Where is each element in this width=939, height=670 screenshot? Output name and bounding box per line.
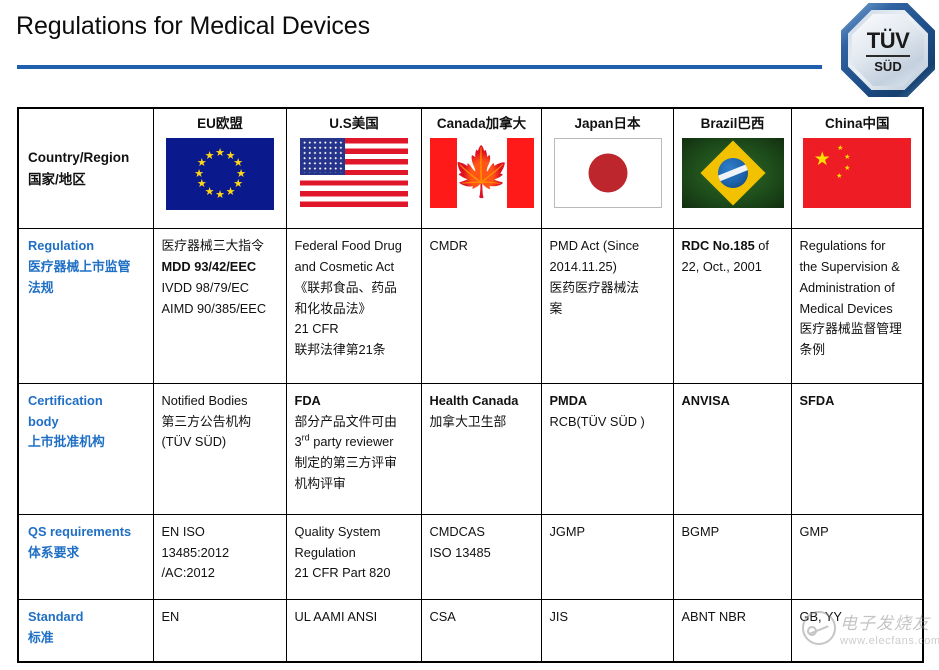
- cell-text: PMDA: [550, 393, 588, 408]
- cell-content: RDC No.185 of22, Oct., 2001: [682, 236, 784, 277]
- cell-text: Regulation: [295, 545, 356, 560]
- tuv-sud-logo: TÜV SÜD: [841, 3, 935, 97]
- cell-eu: Notified Bodies第三方公告机构(TÜV SÜD): [153, 383, 286, 514]
- row-label: Standard标准: [28, 607, 146, 648]
- cell-line: 21 CFR: [295, 319, 414, 340]
- cell-text: EN: [162, 609, 180, 624]
- cell-text: Federal Food Drug: [295, 238, 402, 253]
- cell-text: 22, Oct., 2001: [682, 259, 762, 274]
- cell-line: SFDA: [800, 391, 916, 412]
- cell-line: 21 CFR Part 820: [295, 563, 414, 584]
- header-cell-canada: Canada加拿大 🍁: [421, 108, 541, 229]
- cell-line: EN: [162, 607, 279, 628]
- cell-text: 第三方公告机构: [162, 414, 252, 429]
- cell-line: Regulations for: [800, 236, 916, 257]
- cell-content: ANVISA: [682, 391, 784, 412]
- cell-text-suffix: party reviewer: [310, 434, 394, 449]
- cell-content: BGMP: [682, 522, 784, 543]
- cell-china: Regulations forthe Supervision &Administ…: [791, 229, 923, 383]
- table-row: Regulation医疗器械上市监管法规医疗器械三大指令MDD 93/42/EE…: [18, 229, 923, 383]
- cell-brazil: BGMP: [673, 515, 791, 600]
- cell-line: 部分产品文件可由: [295, 412, 414, 433]
- header-country-region-en: Country/Region: [28, 147, 146, 169]
- cell-content: UL AAMI ANSI: [295, 607, 414, 628]
- cell-text: CMDCAS: [430, 524, 485, 539]
- slide-header: Regulations for Medical Devices TÜV SÜD: [0, 0, 939, 100]
- brazil-flag-band: [718, 160, 748, 183]
- cell-text: 《联邦食品、药品: [295, 280, 397, 295]
- cell-line: 案: [550, 299, 666, 320]
- cell-content: SFDA: [800, 391, 916, 412]
- cell-content: ABNT NBR: [682, 607, 784, 628]
- cell-line: /AC:2012: [162, 563, 279, 584]
- logo-tuv-text: TÜV: [867, 30, 910, 52]
- cell-line: AIMD 90/385/EEC: [162, 299, 279, 320]
- cell-line: 医疗器械监督管理: [800, 319, 916, 340]
- cell-content: Notified Bodies第三方公告机构(TÜV SÜD): [162, 391, 279, 453]
- cell-content: Health Canada加拿大卫生部: [430, 391, 534, 432]
- row-label-line: Regulation: [28, 236, 146, 257]
- logo-divider: [866, 55, 910, 57]
- cell-line: 2014.11.25): [550, 257, 666, 278]
- cell-text: 2014.11.25): [550, 259, 617, 274]
- cell-china: SFDA: [791, 383, 923, 514]
- cell-us: Quality SystemRegulation21 CFR Part 820: [286, 515, 421, 600]
- cell-text: EN ISO: [162, 524, 205, 539]
- eu-flag: [166, 138, 274, 210]
- cell-content: CSA: [430, 607, 534, 628]
- cell-line: 13485:2012: [162, 543, 279, 564]
- page-title: Regulations for Medical Devices: [16, 12, 370, 41]
- table-row: QS requirements体系要求EN ISO13485:2012/AC:2…: [18, 515, 923, 600]
- header-cell-brazil: Brazil巴西: [673, 108, 791, 229]
- cell-text: FDA: [295, 393, 321, 408]
- cell-line: GMP: [800, 522, 916, 543]
- cell-eu: EN ISO13485:2012/AC:2012: [153, 515, 286, 600]
- cell-text: 机构评审: [295, 476, 346, 491]
- cell-line: CSA: [430, 607, 534, 628]
- cell-content: Federal Food Drugand Cosmetic Act《联邦食品、药…: [295, 236, 414, 360]
- cell-content: Quality SystemRegulation21 CFR Part 820: [295, 522, 414, 584]
- cell-eu: 医疗器械三大指令MDD 93/42/EECIVDD 98/79/ECAIMD 9…: [153, 229, 286, 383]
- slide-page: Regulations for Medical Devices TÜV SÜD …: [0, 0, 939, 670]
- row-label-line: body: [28, 412, 146, 433]
- cell-text: MDD 93/42/EEC: [162, 259, 257, 274]
- japan-flag-disc: [588, 153, 627, 192]
- cell-line: ANVISA: [682, 391, 784, 412]
- cell-line: RCB(TÜV SÜD ): [550, 412, 666, 433]
- cell-china: GMP: [791, 515, 923, 600]
- cell-text: 制定的第三方评审: [295, 455, 397, 470]
- row-label-cell: Standard标准: [18, 600, 153, 662]
- cell-content: CMDCASISO 13485: [430, 522, 534, 563]
- us-flag: [300, 138, 408, 207]
- cell-text: 条例: [800, 342, 826, 357]
- cell-line: 第三方公告机构: [162, 412, 279, 433]
- logo-octagon-inner: TÜV SÜD: [852, 14, 924, 86]
- table-row: Standard标准ENUL AAMI ANSICSAJISABNT NBRGB…: [18, 600, 923, 662]
- cell-text: 加拿大卫生部: [430, 414, 507, 429]
- row-label-line: Standard: [28, 607, 146, 628]
- cell-text: 部分产品文件可由: [295, 414, 397, 429]
- cell-brazil: ABNT NBR: [673, 600, 791, 662]
- cell-line: ISO 13485: [430, 543, 534, 564]
- cell-content: EN: [162, 607, 279, 628]
- cell-content: Regulations forthe Supervision &Administ…: [800, 236, 916, 360]
- header-cell-china: China中国: [791, 108, 923, 229]
- cell-line: Health Canada: [430, 391, 534, 412]
- table-row: Certificationbody上市批准机构Notified Bodies第三…: [18, 383, 923, 514]
- header-label-us: U.S美国: [295, 116, 414, 133]
- cell-text: ISO 13485: [430, 545, 491, 560]
- cell-line: 机构评审: [295, 474, 414, 495]
- cell-brazil: RDC No.185 of22, Oct., 2001: [673, 229, 791, 383]
- row-label-cell: Regulation医疗器械上市监管法规: [18, 229, 153, 383]
- header-label-china: China中国: [800, 116, 916, 133]
- header-label-japan: Japan日本: [550, 116, 666, 133]
- cell-text: 和化妆品法》: [295, 301, 372, 316]
- cell-line: Administration of: [800, 278, 916, 299]
- cell-content: JGMP: [550, 522, 666, 543]
- row-label-line: 医疗器械上市监管: [28, 257, 146, 278]
- cell-text: UL AAMI ANSI: [295, 609, 378, 624]
- cell-text: 医疗器械监督管理: [800, 321, 902, 336]
- cell-text: Notified Bodies: [162, 393, 248, 408]
- cell-text: GB, YY: [800, 609, 842, 624]
- cell-content: GMP: [800, 522, 916, 543]
- table-header-row: Country/Region 国家/地区 EU欧盟 U.S美国: [18, 108, 923, 229]
- cell-line: PMD Act (Since: [550, 236, 666, 257]
- cell-line: Notified Bodies: [162, 391, 279, 412]
- cell-text: Quality System: [295, 524, 381, 539]
- cell-line: 和化妆品法》: [295, 299, 414, 320]
- cell-text: 3: [295, 434, 302, 449]
- cell-us: FDA部分产品文件可由3rd party reviewer制定的第三方评审机构评…: [286, 383, 421, 514]
- row-label-cell: QS requirements体系要求: [18, 515, 153, 600]
- cell-text: 21 CFR: [295, 321, 339, 336]
- cell-us: Federal Food Drugand Cosmetic Act《联邦食品、药…: [286, 229, 421, 383]
- cell-text: SFDA: [800, 393, 835, 408]
- row-label-line: 体系要求: [28, 543, 146, 564]
- canada-flag: 🍁: [430, 138, 534, 208]
- cell-text: JIS: [550, 609, 569, 624]
- cell-content: CMDR: [430, 236, 534, 257]
- cell-canada: CSA: [421, 600, 541, 662]
- cell-line: and Cosmetic Act: [295, 257, 414, 278]
- row-label-line: 标准: [28, 628, 146, 649]
- header-cell-country-region: Country/Region 国家/地区: [18, 108, 153, 229]
- cell-text: 21 CFR Part 820: [295, 565, 391, 580]
- cell-text: 13485:2012: [162, 545, 230, 560]
- cell-text: /AC:2012: [162, 565, 215, 580]
- cell-line: CMDCAS: [430, 522, 534, 543]
- cell-superscript: rd: [302, 433, 310, 443]
- us-flag-canton: [300, 138, 345, 175]
- cell-japan: JGMP: [541, 515, 673, 600]
- regulations-table: Country/Region 国家/地区 EU欧盟 U.S美国: [17, 107, 924, 663]
- cell-japan: PMD Act (Since2014.11.25)医药医疗器械法案: [541, 229, 673, 383]
- cell-text: AIMD 90/385/EEC: [162, 301, 267, 316]
- cell-line: CMDR: [430, 236, 534, 257]
- row-label: Certificationbody上市批准机构: [28, 391, 146, 453]
- cell-content: PMDARCB(TÜV SÜD ): [550, 391, 666, 432]
- us-flag-stars: [302, 140, 343, 173]
- header-label-brazil: Brazil巴西: [682, 116, 784, 133]
- cell-content: 医疗器械三大指令MDD 93/42/EECIVDD 98/79/ECAIMD 9…: [162, 236, 279, 319]
- cell-line: 制定的第三方评审: [295, 453, 414, 474]
- cell-china: GB, YY: [791, 600, 923, 662]
- cell-line: PMDA: [550, 391, 666, 412]
- cell-text: 案: [550, 301, 563, 316]
- cell-line: EN ISO: [162, 522, 279, 543]
- cell-content: JIS: [550, 607, 666, 628]
- row-label: Regulation医疗器械上市监管法规: [28, 236, 146, 298]
- cell-text: IVDD 98/79/EC: [162, 280, 250, 295]
- cell-line: 条例: [800, 340, 916, 361]
- maple-leaf-icon: 🍁: [452, 149, 512, 197]
- cell-text: Medical Devices: [800, 301, 893, 316]
- cell-line: ABNT NBR: [682, 607, 784, 628]
- cell-text: Regulations for: [800, 238, 886, 253]
- cell-line: (TÜV SÜD): [162, 432, 279, 453]
- cell-brazil: ANVISA: [673, 383, 791, 514]
- title-divider: [17, 65, 822, 69]
- header-label-eu: EU欧盟: [162, 116, 279, 133]
- cell-content: PMD Act (Since2014.11.25)医药医疗器械法案: [550, 236, 666, 319]
- cell-japan: PMDARCB(TÜV SÜD ): [541, 383, 673, 514]
- cell-line: 加拿大卫生部: [430, 412, 534, 433]
- cell-line: the Supervision &: [800, 257, 916, 278]
- cell-line: IVDD 98/79/EC: [162, 278, 279, 299]
- cell-text: JGMP: [550, 524, 586, 539]
- header-cell-japan: Japan日本: [541, 108, 673, 229]
- cell-line: Quality System: [295, 522, 414, 543]
- row-label-line: 上市批准机构: [28, 432, 146, 453]
- cell-line: Federal Food Drug: [295, 236, 414, 257]
- cell-text: Administration of: [800, 280, 895, 295]
- cell-text: 医疗器械三大指令: [162, 238, 264, 253]
- cell-line: 医药医疗器械法: [550, 278, 666, 299]
- cell-text: RDC No.185: [682, 238, 755, 253]
- cell-line: UL AAMI ANSI: [295, 607, 414, 628]
- row-label-line: QS requirements: [28, 522, 146, 543]
- cell-line: MDD 93/42/EEC: [162, 257, 279, 278]
- cell-japan: JIS: [541, 600, 673, 662]
- cell-text: (TÜV SÜD): [162, 434, 227, 449]
- cell-line: 3rd party reviewer: [295, 432, 414, 453]
- header-cell-us: U.S美国: [286, 108, 421, 229]
- row-label-line: 法规: [28, 278, 146, 299]
- japan-flag: [554, 138, 662, 208]
- cell-text: ABNT NBR: [682, 609, 746, 624]
- cell-line: JIS: [550, 607, 666, 628]
- cell-line: Regulation: [295, 543, 414, 564]
- header-country-region-cn: 国家/地区: [28, 169, 146, 191]
- cell-text: Health Canada: [430, 393, 519, 408]
- cell-text: 联邦法律第21条: [295, 342, 386, 357]
- row-label-line: Certification: [28, 391, 146, 412]
- cell-text: ANVISA: [682, 393, 730, 408]
- cell-line: 联邦法律第21条: [295, 340, 414, 361]
- cell-eu: EN: [153, 600, 286, 662]
- row-label-cell: Certificationbody上市批准机构: [18, 383, 153, 514]
- cell-text: the Supervision &: [800, 259, 900, 274]
- cell-line: GB, YY: [800, 607, 916, 628]
- row-label: QS requirements体系要求: [28, 522, 146, 563]
- cell-text-suffix: of: [755, 238, 769, 253]
- header-label-canada: Canada加拿大: [430, 116, 534, 133]
- cell-line: RDC No.185 of: [682, 236, 784, 257]
- cell-canada: Health Canada加拿大卫生部: [421, 383, 541, 514]
- cell-us: UL AAMI ANSI: [286, 600, 421, 662]
- cell-content: GB, YY: [800, 607, 916, 628]
- cell-line: JGMP: [550, 522, 666, 543]
- brazil-flag-globe: [718, 158, 748, 188]
- logo-sud-text: SÜD: [874, 60, 901, 73]
- cell-text: CSA: [430, 609, 456, 624]
- cell-content: EN ISO13485:2012/AC:2012: [162, 522, 279, 584]
- cell-text: GMP: [800, 524, 829, 539]
- cell-text: RCB(TÜV SÜD ): [550, 414, 645, 429]
- cell-text: BGMP: [682, 524, 720, 539]
- cell-line: BGMP: [682, 522, 784, 543]
- header-cell-eu: EU欧盟: [153, 108, 286, 229]
- cell-line: 22, Oct., 2001: [682, 257, 784, 278]
- cell-content: FDA部分产品文件可由3rd party reviewer制定的第三方评审机构评…: [295, 391, 414, 495]
- cell-text: and Cosmetic Act: [295, 259, 395, 274]
- china-flag: [803, 138, 911, 208]
- cell-line: Medical Devices: [800, 299, 916, 320]
- brazil-flag: [682, 138, 784, 208]
- cell-line: 《联邦食品、药品: [295, 278, 414, 299]
- cell-line: 医疗器械三大指令: [162, 236, 279, 257]
- cell-canada: CMDCASISO 13485: [421, 515, 541, 600]
- cell-line: FDA: [295, 391, 414, 412]
- cell-text: 医药医疗器械法: [550, 280, 640, 295]
- cell-canada: CMDR: [421, 229, 541, 383]
- cell-text: CMDR: [430, 238, 468, 253]
- cell-text: PMD Act (Since: [550, 238, 640, 253]
